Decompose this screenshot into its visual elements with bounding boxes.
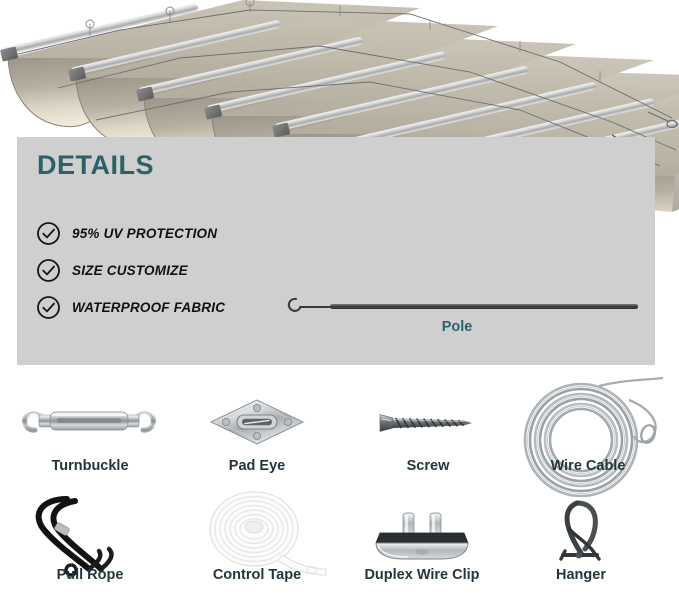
- accessory-turnbuckle: Turnbuckle: [5, 384, 175, 496]
- accessory-pad-eye: Pad Eye: [172, 384, 342, 496]
- feature-label: WATERPROOF FABRIC: [72, 300, 225, 315]
- pull-rope-icon: [5, 493, 175, 571]
- accessory-control-tape: Control Tape: [172, 493, 342, 605]
- wire-cable-icon: [503, 378, 673, 503]
- page-title: DETAILS: [37, 150, 154, 181]
- feature-label: SIZE CUSTOMIZE: [72, 263, 188, 278]
- pole-label: Pole: [272, 319, 642, 335]
- duplex-wire-clip-icon: [337, 493, 507, 571]
- hanger-icon: [496, 493, 666, 571]
- accessory-pull-rope: Pull Rope: [5, 493, 175, 605]
- accessory-label: Hanger: [496, 567, 666, 583]
- pad-eye-icon: [172, 384, 342, 462]
- accessory-label: Pull Rope: [5, 567, 175, 583]
- pole-figure: Pole: [272, 287, 642, 347]
- accessory-label: Duplex Wire Clip: [337, 567, 507, 583]
- accessory-duplex-wire-clip: Duplex Wire Clip: [337, 493, 507, 605]
- accessory-label: Control Tape: [172, 567, 342, 583]
- details-panel: DETAILS 95% UV PROTECTION: [17, 137, 655, 365]
- check-circle-icon: [36, 295, 61, 320]
- screw-icon: [343, 384, 513, 462]
- check-circle-icon: [36, 258, 61, 283]
- check-circle-icon: [36, 221, 61, 246]
- product-detail-image: DETAILS 95% UV PROTECTION: [0, 0, 679, 611]
- accessory-label: Turnbuckle: [5, 458, 175, 474]
- feature-label: 95% UV PROTECTION: [72, 226, 217, 241]
- accessory-wire-cable: Wire Cable: [503, 384, 673, 496]
- accessories-grid: Turnbuckle: [0, 372, 679, 611]
- accessory-label: Pad Eye: [172, 458, 342, 474]
- accessory-screw: Screw: [343, 384, 513, 496]
- turnbuckle-icon: [5, 384, 175, 462]
- accessory-hanger: Hanger: [496, 493, 666, 605]
- control-tape-icon: [172, 493, 342, 571]
- pole-icon: [272, 287, 642, 317]
- accessory-label: Screw: [343, 458, 513, 474]
- feature-item-uv-protection: 95% UV PROTECTION: [36, 217, 366, 249]
- accessory-label: Wire Cable: [503, 458, 673, 474]
- feature-item-size-customize: SIZE CUSTOMIZE: [36, 254, 366, 286]
